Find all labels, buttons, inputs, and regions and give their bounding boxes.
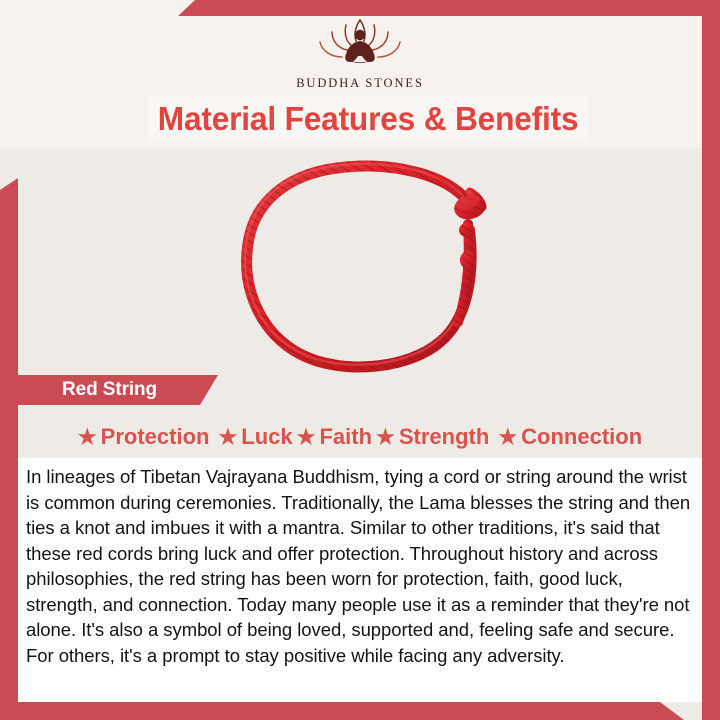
- product-name-label: Red String: [62, 379, 157, 401]
- infographic-page: BUDDHA STONES Material Features & Benefi…: [0, 0, 720, 720]
- benefit-label: Strength: [399, 424, 489, 450]
- benefit-label: Luck: [241, 424, 292, 450]
- benefit-label: Faith: [319, 424, 372, 450]
- star-icon: ★: [78, 427, 97, 448]
- red-string-bracelet-image: [232, 152, 508, 374]
- bracelet-knot: [452, 191, 489, 269]
- benefit-item-strength: ★Strength: [376, 424, 489, 450]
- star-icon: ★: [297, 427, 316, 448]
- left-red-bar: [0, 178, 18, 720]
- product-name-tag: Red String: [18, 375, 218, 405]
- bottom-red-band: [0, 702, 720, 720]
- title-banner: Material Features & Benefits: [148, 96, 588, 142]
- lotus-meditation-icon: [308, 14, 412, 74]
- benefit-item-luck: ★Luck: [218, 424, 292, 450]
- star-icon: ★: [498, 427, 517, 448]
- benefits-row: ★Protection ★Luck ★Faith ★Strength ★Conn…: [18, 418, 702, 456]
- benefit-label: Protection: [101, 424, 210, 450]
- star-icon: ★: [376, 427, 395, 448]
- star-icon: ★: [218, 427, 237, 448]
- benefit-label: Connection: [521, 424, 642, 450]
- benefit-item-protection: ★Protection: [78, 424, 210, 450]
- brand-name: BUDDHA STONES: [0, 76, 720, 91]
- page-title: Material Features & Benefits: [158, 100, 579, 138]
- description-panel: In lineages of Tibetan Vajrayana Buddhis…: [18, 458, 702, 702]
- brand-lockup: BUDDHA STONES: [0, 14, 720, 91]
- description-text: In lineages of Tibetan Vajrayana Buddhis…: [18, 458, 702, 668]
- benefit-item-connection: ★Connection: [498, 424, 642, 450]
- right-red-bar: [702, 0, 720, 720]
- benefit-item-faith: ★Faith: [297, 424, 372, 450]
